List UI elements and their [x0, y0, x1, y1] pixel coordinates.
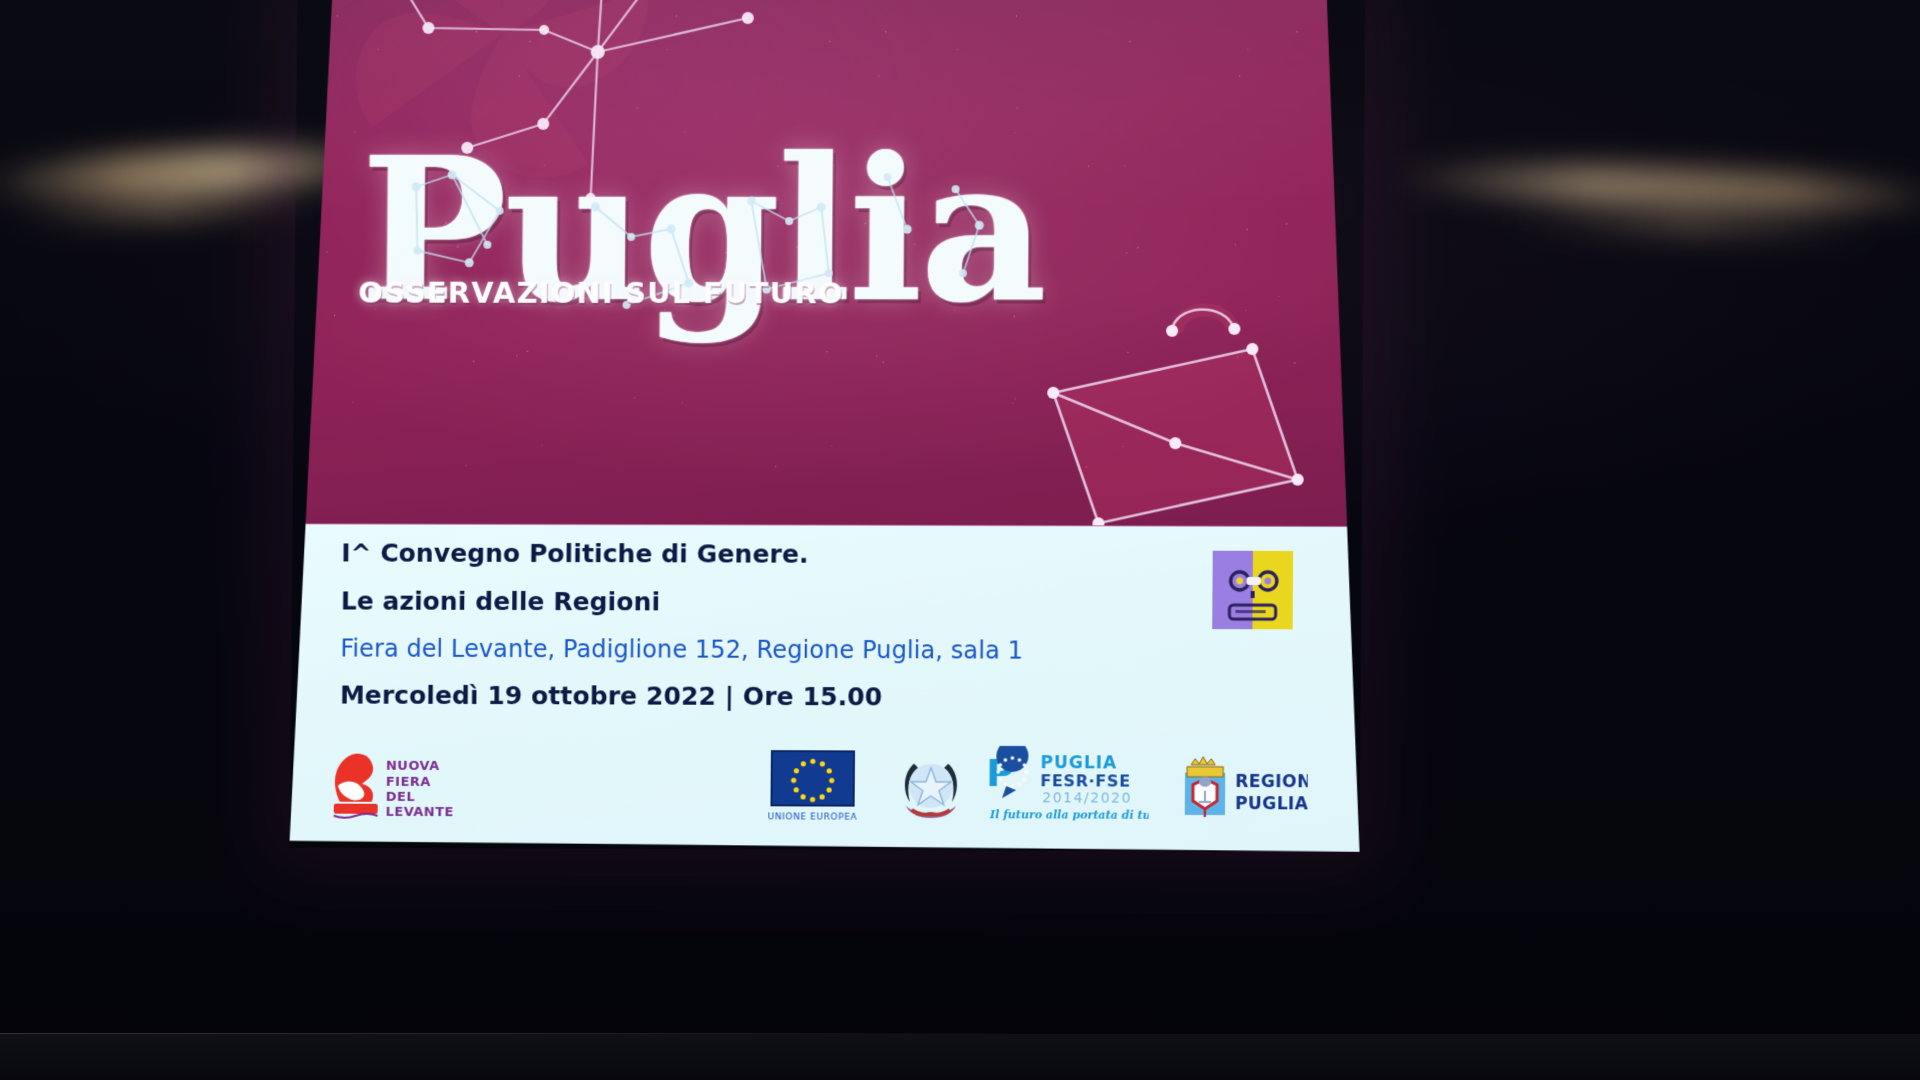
event-title: I^ Convegno Politiche di Genere. [341, 539, 1132, 570]
po-subtitle: FESR·FSE [1040, 771, 1130, 790]
logo-repubblica-italiana [890, 746, 973, 829]
logo-unione-europea: UNIONE EUROPEA [759, 745, 866, 828]
po-years: 2014/2020 [1042, 790, 1132, 806]
sponsor-logo-strip: NUOVA FIERA DEL LEVANTE [290, 739, 1361, 829]
slide-subtitle: OSSERVAZIONI SUL FUTURO [358, 275, 844, 310]
face-badge-icon [1212, 551, 1293, 630]
event-datetime: Mercoledì 19 ottobre 2022 | Ore 15.00 [340, 681, 1131, 713]
fiera-line-2: FIERA [386, 775, 431, 790]
regione-line-1: REGIONE [1236, 772, 1309, 792]
ceiling-light-streak-right [1399, 157, 1920, 218]
ceiling-light-streak-left-2 [0, 189, 330, 230]
event-venue: Fiera del Levante, Padiglione 152, Regio… [340, 635, 1131, 666]
po-tagline: Il futuro alla portata di tutti [989, 808, 1149, 822]
fiera-line-3: DEL [386, 790, 415, 805]
event-subtitle: Le azioni delle Regioni [341, 587, 1132, 618]
fiera-line-4: LEVANTE [386, 805, 454, 820]
slide-info-panel: I^ Convegno Politiche di Genere. Le azio… [290, 525, 1362, 852]
event-details: I^ Convegno Politiche di Genere. Le azio… [340, 539, 1132, 713]
logo-nuova-fiera-del-levante: NUOVA FIERA DEL LEVANTE [322, 744, 462, 827]
wordmark-container: Puglia [359, 133, 1040, 364]
eu-caption: UNIONE EUROPEA [768, 812, 858, 822]
desk-silhouette [0, 1034, 1920, 1080]
fiera-line-1: NUOVA [386, 759, 440, 774]
slide-hero-band: Puglia [292, 0, 1365, 527]
logo-po-puglia-fesr-fse: P [984, 746, 1149, 829]
logo-regione-puglia: REGIONE PUGLIA [1177, 747, 1308, 830]
briefcase-constellation-icon [1024, 296, 1327, 527]
ceiling-light-streak-right-2 [1500, 208, 1881, 242]
regione-line-2: PUGLIA [1235, 794, 1308, 814]
projected-slide: Puglia [290, 0, 1366, 852]
